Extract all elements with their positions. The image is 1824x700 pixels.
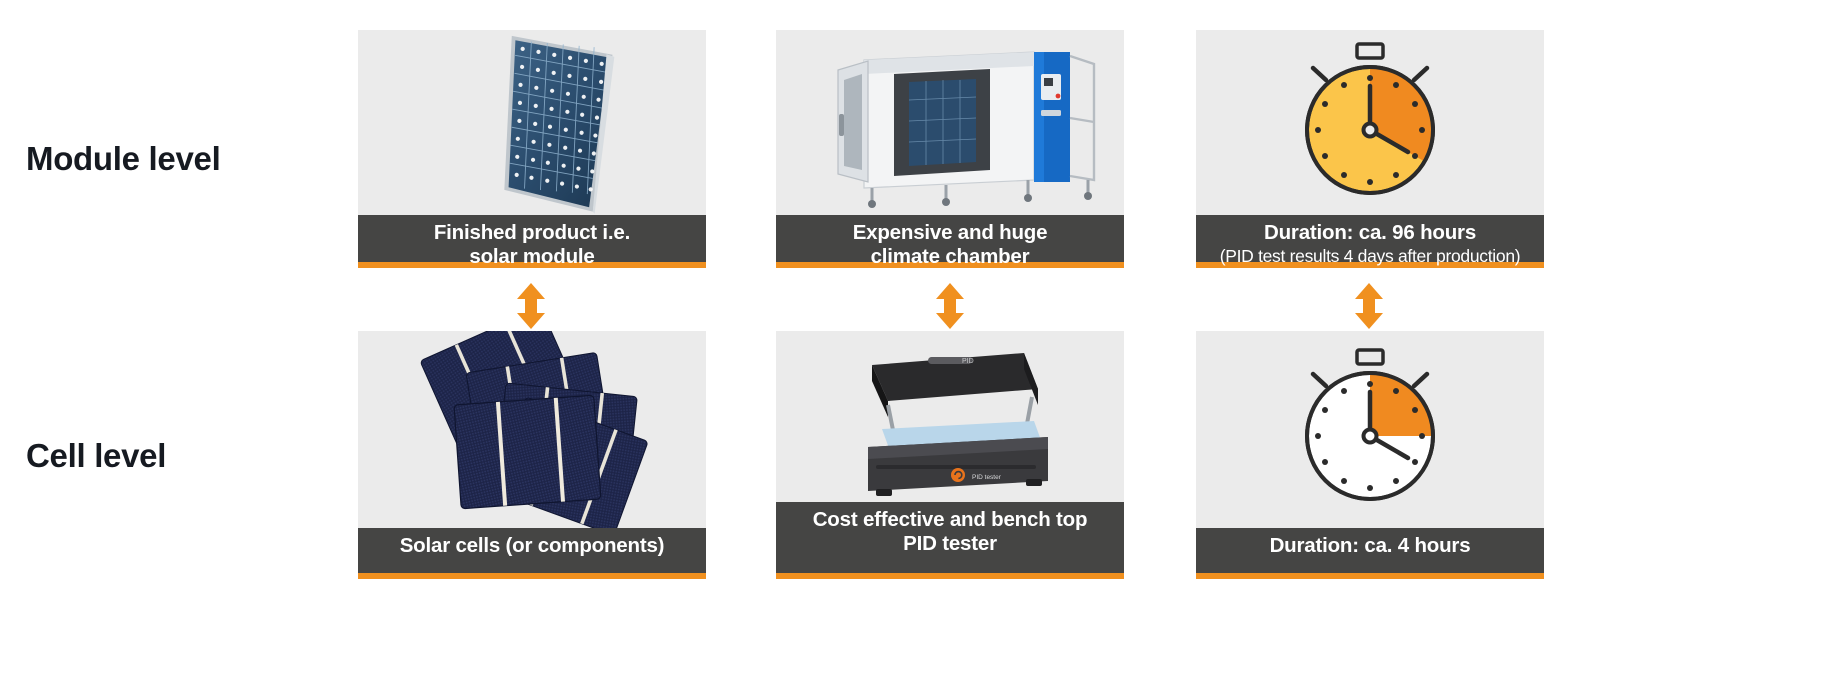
connector-duration bbox=[1352, 283, 1386, 329]
caption-cell-equipment: Cost effective and bench top PID tester bbox=[776, 502, 1124, 579]
double-arrow-vertical-icon bbox=[933, 283, 967, 329]
caption-line-1: Duration: ca. 96 hours bbox=[1264, 221, 1476, 244]
caption-line-2: solar module bbox=[469, 245, 594, 268]
caption-module-equipment: Expensive and huge climate chamber bbox=[776, 215, 1124, 268]
card-cell-product[interactable]: Solar cells (or components) bbox=[358, 331, 706, 579]
caption-line-2: PID tester bbox=[903, 532, 997, 555]
svg-text:PID tester: PID tester bbox=[972, 474, 1002, 481]
card-module-duration[interactable]: Duration: ca. 96 hours (PID test results… bbox=[1196, 30, 1544, 268]
row-label-module-level: Module level bbox=[26, 140, 220, 178]
caption-module-product: Finished product i.e. solar module bbox=[358, 215, 706, 268]
solar-module-photo-icon bbox=[358, 30, 706, 215]
caption-line-1: Cost effective and bench top bbox=[813, 508, 1088, 531]
card-module-equipment[interactable]: Expensive and huge climate chamber bbox=[776, 30, 1124, 268]
caption-cell-duration: Duration: ca. 4 hours bbox=[1196, 528, 1544, 579]
svg-text:PID: PID bbox=[962, 358, 974, 365]
connector-product bbox=[514, 283, 548, 329]
stopwatch-icon bbox=[1196, 30, 1544, 215]
row-label-cell-level: Cell level bbox=[26, 437, 166, 475]
diagram-canvas: Module level Cell level bbox=[0, 0, 1824, 700]
caption-line-1: Finished product i.e. bbox=[434, 221, 630, 244]
caption-cell-product: Solar cells (or components) bbox=[358, 528, 706, 579]
climate-chamber-photo-icon bbox=[776, 30, 1124, 215]
caption-line-1: Solar cells (or components) bbox=[400, 534, 665, 557]
media-solar-cells bbox=[358, 331, 706, 528]
solar-cells-photo-icon bbox=[358, 331, 706, 528]
stopwatch-icon bbox=[1196, 331, 1544, 528]
card-cell-equipment[interactable]: PID PID tester bbox=[776, 331, 1124, 579]
caption-line-2: climate chamber bbox=[871, 245, 1030, 268]
bench-top-pid-tester-photo-icon: PID PID tester bbox=[776, 331, 1124, 502]
caption-line-1: Expensive and huge bbox=[853, 221, 1048, 244]
card-module-product[interactable]: Finished product i.e. solar module bbox=[358, 30, 706, 268]
connector-equipment bbox=[933, 283, 967, 329]
media-solar-module bbox=[358, 30, 706, 215]
caption-line-1: Duration: ca. 4 hours bbox=[1270, 534, 1471, 557]
card-cell-duration[interactable]: Duration: ca. 4 hours bbox=[1196, 331, 1544, 579]
media-stopwatch-module bbox=[1196, 30, 1544, 215]
media-climate-chamber bbox=[776, 30, 1124, 215]
media-pid-tester: PID PID tester bbox=[776, 331, 1124, 502]
media-stopwatch-cell bbox=[1196, 331, 1544, 528]
caption-module-duration: Duration: ca. 96 hours (PID test results… bbox=[1196, 215, 1544, 268]
double-arrow-vertical-icon bbox=[514, 283, 548, 329]
caption-subtext: (PID test results 4 days after productio… bbox=[1200, 246, 1540, 266]
double-arrow-vertical-icon bbox=[1352, 283, 1386, 329]
